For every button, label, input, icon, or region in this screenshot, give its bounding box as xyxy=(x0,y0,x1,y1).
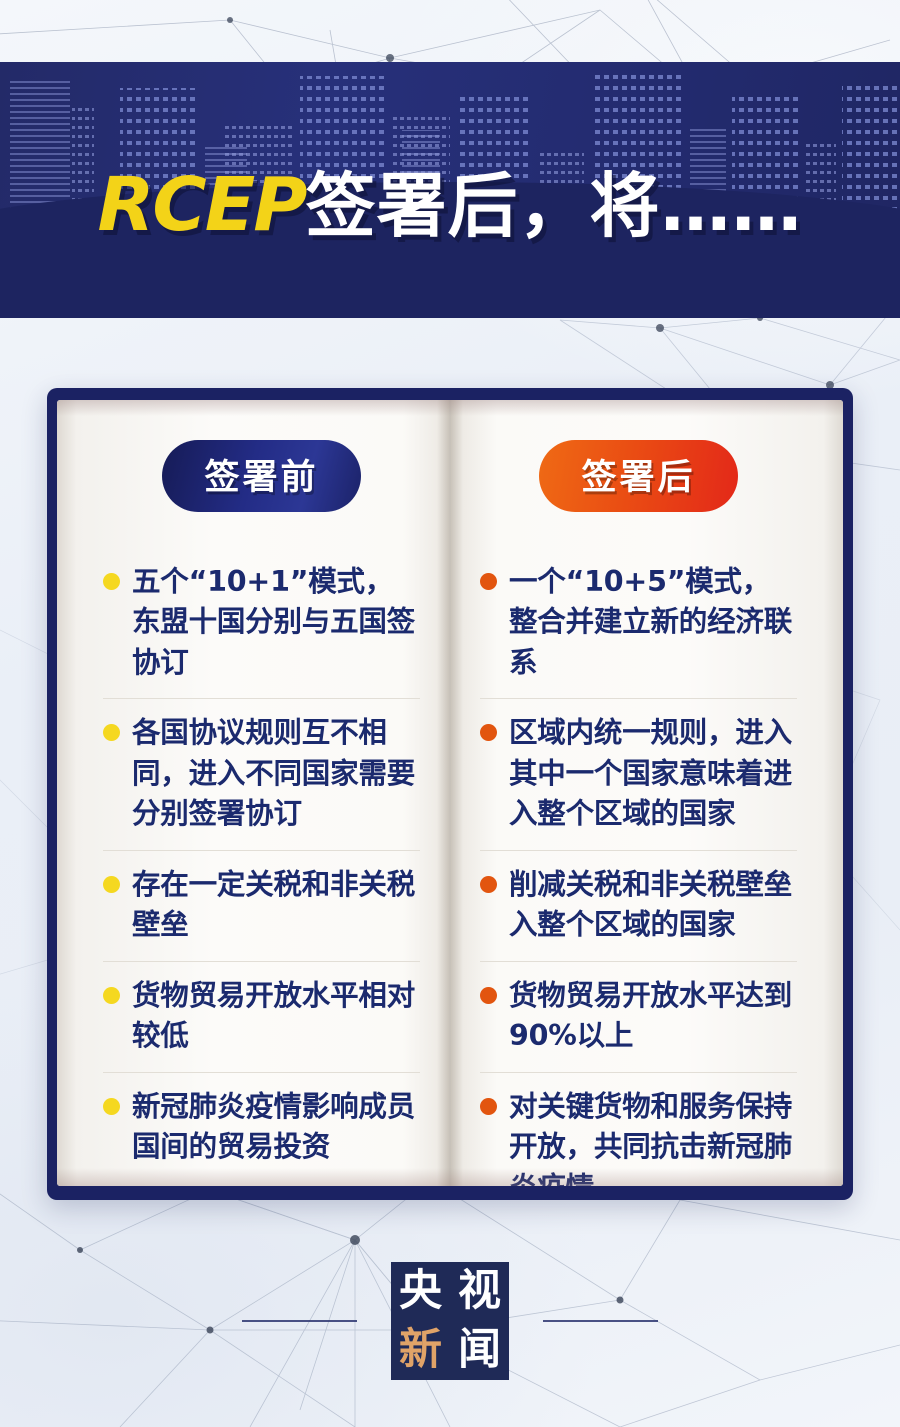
logo-char-xin: 新 xyxy=(399,1329,442,1372)
bullet-icon xyxy=(103,724,120,741)
list-before-signing: 五个“10+1”模式，东盟十国分别与五国签协订 各国协议规则互不相同，进入不同国… xyxy=(103,548,420,1183)
footer-rule-left xyxy=(242,1320,357,1322)
book-pages: 签署前 五个“10+1”模式，东盟十国分别与五国签协订 各国协议规则互不相同，进… xyxy=(57,400,843,1186)
header-banner: RCEP签署后，将…… xyxy=(0,62,900,318)
page-after-signing: 签署后 一个“10+5”模式，整合并建立新的经济联系 区域内统一规则，进入其中一… xyxy=(450,400,843,1186)
open-book-panel: 签署前 五个“10+1”模式，东盟十国分别与五国签协订 各国协议规则互不相同，进… xyxy=(47,388,853,1200)
logo-char-yang: 央 xyxy=(399,1270,442,1313)
bullet-icon xyxy=(480,573,497,590)
list-item-text: 存在一定关税和非关税壁垒 xyxy=(132,865,420,946)
page-title-en: RCEP xyxy=(97,162,305,248)
footer: 央 视 新 闻 xyxy=(0,1262,900,1380)
list-item: 一个“10+5”模式，整合并建立新的经济联系 xyxy=(480,548,797,699)
cctv-news-logo: 央 视 新 闻 xyxy=(391,1262,509,1380)
bullet-icon xyxy=(103,573,120,590)
list-item: 五个“10+1”模式，东盟十国分别与五国签协订 xyxy=(103,548,420,699)
page-before-signing: 签署前 五个“10+1”模式，东盟十国分别与五国签协订 各国协议规则互不相同，进… xyxy=(57,400,450,1186)
badge-after-signing: 签署后 xyxy=(539,440,737,512)
bullet-icon xyxy=(103,1098,120,1115)
list-item-text: 五个“10+1”模式，东盟十国分别与五国签协订 xyxy=(132,562,420,683)
list-item: 货物贸易开放水平达到90%以上 xyxy=(480,962,797,1073)
list-item: 存在一定关税和非关税壁垒 xyxy=(103,851,420,962)
list-item: 货物贸易开放水平相对较低 xyxy=(103,962,420,1073)
logo-char-wen: 闻 xyxy=(458,1329,501,1372)
page-title: RCEP签署后，将…… xyxy=(0,150,900,251)
bullet-icon xyxy=(103,987,120,1004)
badge-row-before: 签署前 xyxy=(103,440,420,548)
bullet-icon xyxy=(480,876,497,893)
bullet-icon xyxy=(103,876,120,893)
list-item-text: 新冠肺炎疫情影响成员国间的贸易投资 xyxy=(132,1087,420,1168)
logo-char-shi: 视 xyxy=(458,1270,501,1313)
list-item: 区域内统一规则，进入其中一个国家意味着进入整个区域的国家 xyxy=(480,699,797,850)
bullet-icon xyxy=(480,724,497,741)
list-after-signing: 一个“10+5”模式，整合并建立新的经济联系 区域内统一规则，进入其中一个国家意… xyxy=(480,548,797,1186)
list-item-text: 区域内统一规则，进入其中一个国家意味着进入整个区域的国家 xyxy=(509,713,797,834)
list-item: 新冠肺炎疫情影响成员国间的贸易投资 xyxy=(103,1073,420,1183)
list-item-text: 削减关税和非关税壁垒入整个区域的国家 xyxy=(509,865,797,946)
footer-rule-right xyxy=(543,1320,658,1322)
list-item-text: 各国协议规则互不相同，进入不同国家需要分别签署协订 xyxy=(132,713,420,834)
badge-before-signing: 签署前 xyxy=(162,440,360,512)
list-item: 各国协议规则互不相同，进入不同国家需要分别签署协订 xyxy=(103,699,420,850)
badge-row-after: 签署后 xyxy=(480,440,797,548)
list-item-text: 货物贸易开放水平达到90%以上 xyxy=(509,976,797,1057)
bullet-icon xyxy=(480,987,497,1004)
list-item: 削减关税和非关税壁垒入整个区域的国家 xyxy=(480,851,797,962)
list-item: 对关键货物和服务保持开放，共同抗击新冠肺炎疫情 xyxy=(480,1073,797,1186)
list-item-text: 一个“10+5”模式，整合并建立新的经济联系 xyxy=(509,562,797,683)
page-title-cn: 签署后，将…… xyxy=(306,165,803,247)
bullet-icon xyxy=(480,1098,497,1115)
list-item-text: 对关键货物和服务保持开放，共同抗击新冠肺炎疫情 xyxy=(509,1087,797,1186)
list-item-text: 货物贸易开放水平相对较低 xyxy=(132,976,420,1057)
